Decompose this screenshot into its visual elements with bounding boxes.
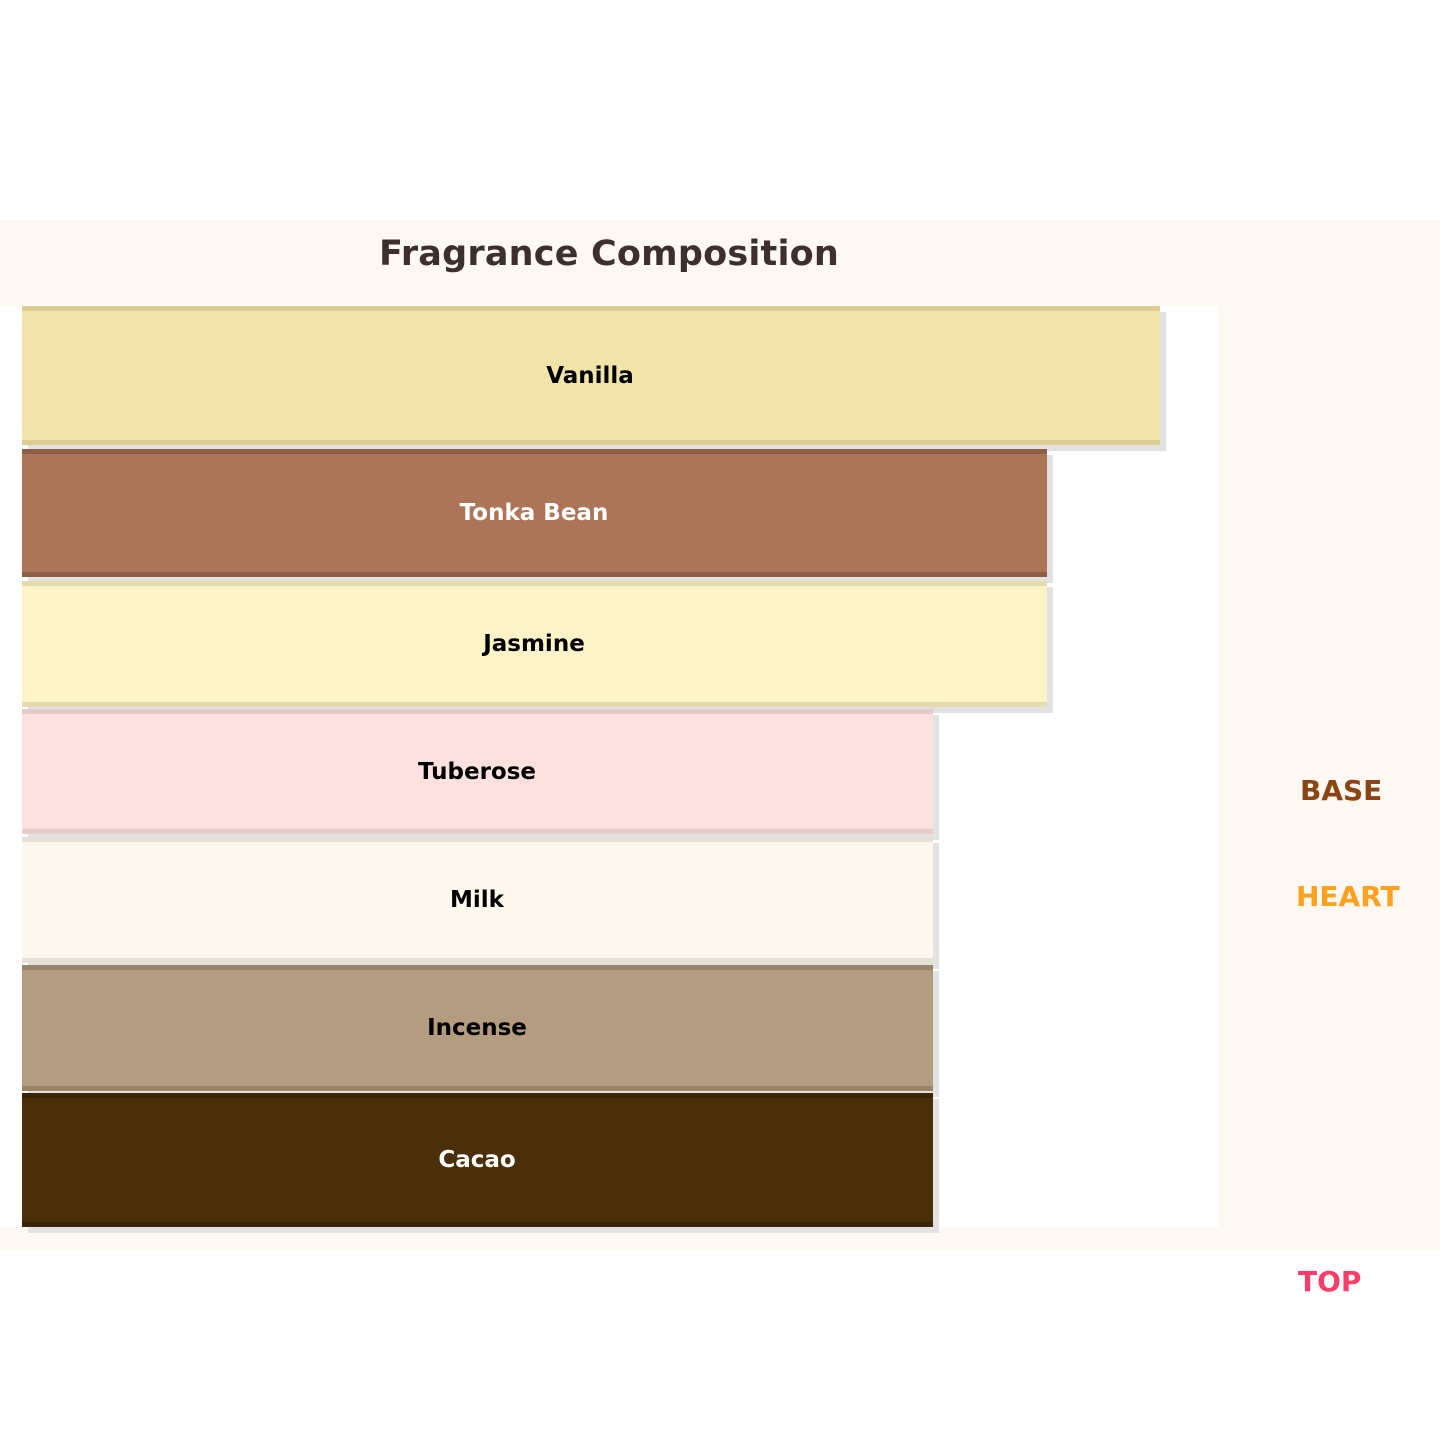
plot-area: VanillaTonka BeanJasmineTuberoseMilkInce… — [0, 306, 1218, 1227]
page-title: Fragrance Composition — [0, 234, 1218, 274]
bar-label: Jasmine — [22, 631, 1047, 657]
bar-incense[interactable]: Incense — [22, 965, 933, 1091]
axis-label-heart: HEART — [1296, 880, 1400, 913]
bar-label: Tonka Bean — [22, 500, 1047, 526]
bar-cacao[interactable]: Cacao — [22, 1093, 933, 1227]
bar-label: Vanilla — [21, 363, 1159, 389]
bar-label: Milk — [22, 887, 933, 913]
bar-label: Tuberose — [22, 759, 933, 785]
bar-milk[interactable]: Milk — [22, 837, 933, 963]
bar-tuberose[interactable]: Tuberose — [22, 709, 933, 834]
axis-group-labels: BASEHEARTTOP — [1218, 306, 1440, 1227]
axis-label-base: BASE — [1300, 774, 1382, 807]
axis-label-top: TOP — [1298, 1265, 1361, 1298]
bar-vanilla[interactable]: Vanilla — [22, 306, 1160, 445]
bar-jasmine[interactable]: Jasmine — [22, 581, 1047, 707]
chart-figure: Fragrance Composition VanillaTonka BeanJ… — [0, 220, 1440, 1250]
bar-label: Incense — [22, 1015, 933, 1041]
bar-label: Cacao — [22, 1147, 933, 1173]
bar-tonka-bean[interactable]: Tonka Bean — [22, 449, 1047, 577]
